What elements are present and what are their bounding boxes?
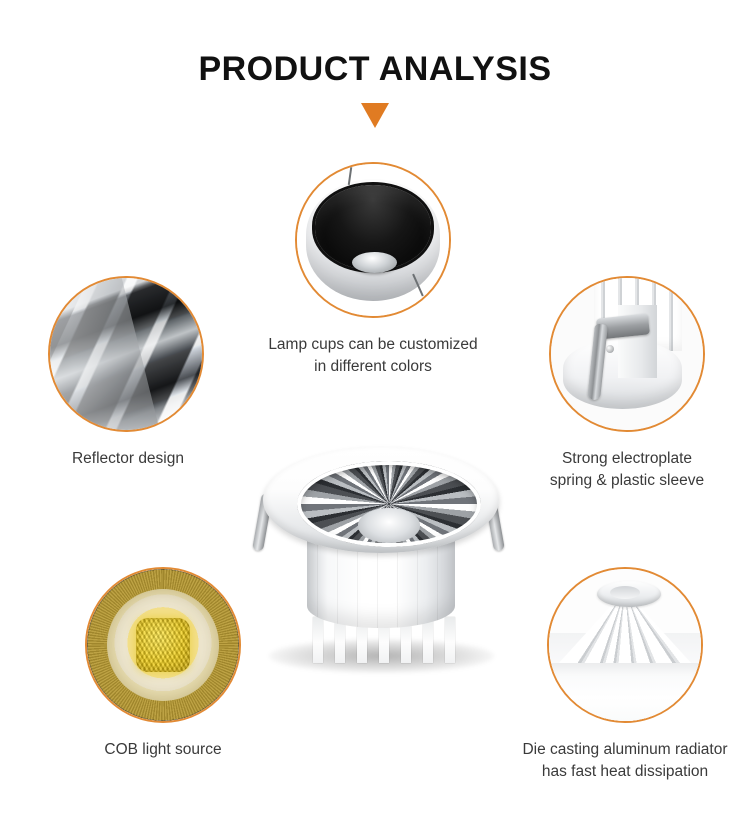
product-fin bbox=[445, 617, 455, 663]
led-downlight-product-photo bbox=[255, 443, 505, 683]
heatsink-lower-body-shape bbox=[549, 663, 701, 721]
feature-lamp-cup: Lamp cups can be customized in different… bbox=[295, 162, 523, 378]
feature-reflector: Reflector design bbox=[48, 276, 263, 470]
feature-image-radiator bbox=[547, 567, 703, 723]
feature-caption-radiator: Die casting aluminum radiator has fast h… bbox=[485, 739, 750, 783]
heatsink-hub-hole-shape bbox=[610, 586, 640, 599]
feature-caption-spring: Strong electroplate spring & plastic sle… bbox=[512, 448, 742, 492]
triangle-down-icon bbox=[361, 103, 389, 128]
feature-radiator: Die casting aluminum radiator has fast h… bbox=[547, 567, 750, 783]
product-reflector-cone-shape bbox=[297, 461, 481, 547]
feature-cob: COB light source bbox=[85, 567, 278, 761]
product-rim-shape bbox=[263, 447, 499, 553]
die-cast-aluminum-heatsink-photo bbox=[549, 569, 701, 721]
feature-caption-lamp-cup: Lamp cups can be customized in different… bbox=[223, 334, 523, 378]
spring-clip-pivot-shape bbox=[606, 345, 614, 353]
product-fin bbox=[423, 617, 433, 663]
lamp-cup-black-reflector-photo bbox=[297, 164, 449, 316]
feature-image-spring bbox=[549, 276, 705, 432]
page-title: PRODUCT ANALYSIS bbox=[0, 50, 750, 89]
chrome-faceted-reflector-photo bbox=[50, 278, 202, 430]
spring-clip-plastic-sleeve-photo bbox=[551, 278, 703, 430]
cob-led-chip-photo bbox=[87, 569, 239, 721]
feature-spring: Strong electroplate spring & plastic sle… bbox=[549, 276, 742, 492]
feature-image-reflector bbox=[48, 276, 204, 432]
feature-caption-cob: COB light source bbox=[48, 739, 278, 761]
feature-image-cob bbox=[85, 567, 241, 723]
feature-image-lamp-cup bbox=[295, 162, 451, 318]
product-fin bbox=[313, 617, 323, 663]
feature-caption-reflector: Reflector design bbox=[0, 448, 263, 470]
cob-emitter-chip-shape bbox=[136, 618, 191, 673]
